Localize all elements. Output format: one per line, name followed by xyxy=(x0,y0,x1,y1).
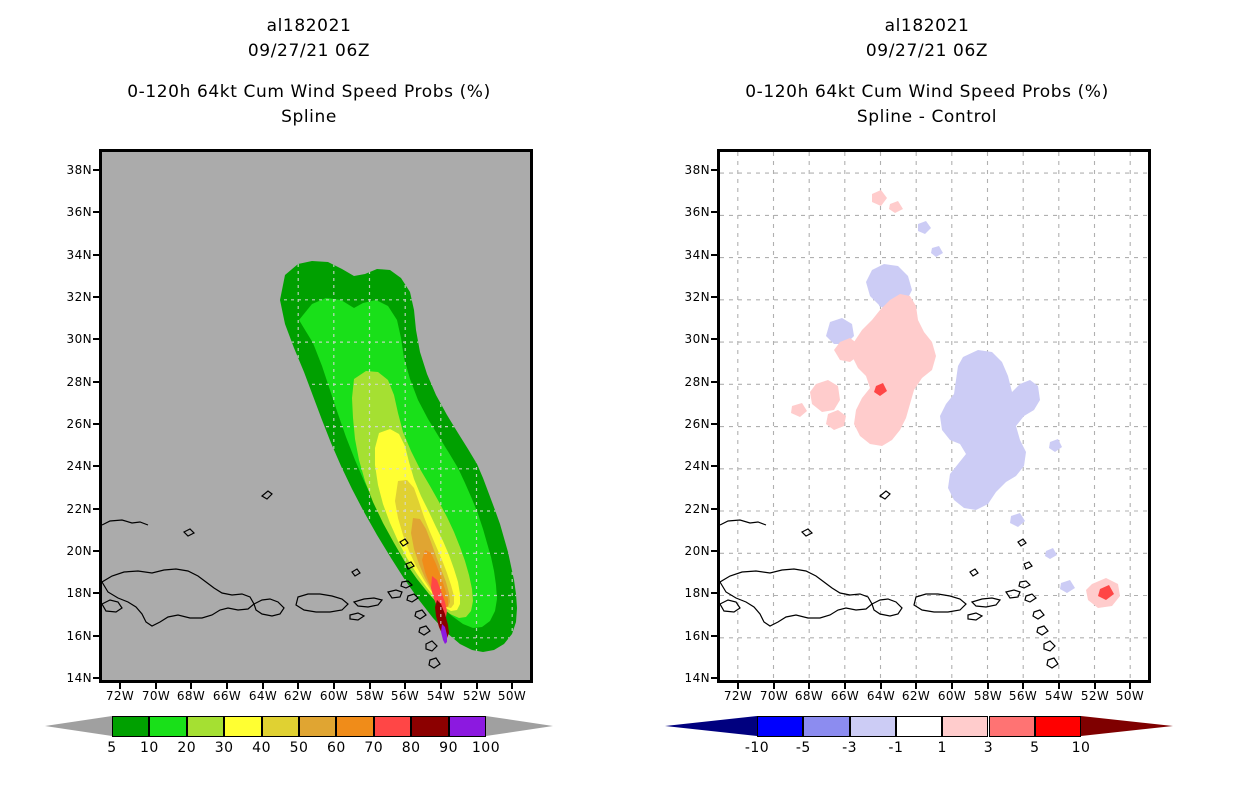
product-title-label: 0-120h 64kt Cum Wind Speed Probs (%) xyxy=(618,80,1236,105)
colorbar-segment xyxy=(112,716,149,737)
control-plot-frame xyxy=(717,149,1151,683)
panel-spline: al182021 09/27/21 06Z 0-120h 64kt Cum Wi… xyxy=(0,0,618,800)
y-tick-label: 34N xyxy=(67,248,92,262)
x-tick-label: 72W xyxy=(724,689,752,703)
colorbar-segment xyxy=(449,716,486,737)
colorbar-tick-label: 20 xyxy=(177,740,196,756)
colorbar-segment xyxy=(374,716,411,737)
x-tick-label: 60W xyxy=(938,689,966,703)
spline-plot-area: 38N 36N 34N 32N 30N 28N 26N 24N 22N 20N … xyxy=(99,149,533,683)
y-tick-label: 28N xyxy=(685,375,710,389)
colorbar-segment xyxy=(411,716,448,737)
y-tick-label: 24N xyxy=(67,459,92,473)
control-colorbar: -10 -5 -3 -1 1 3 5 10 xyxy=(665,716,1173,737)
panel-spline-control: al182021 09/27/21 06Z 0-120h 64kt Cum Wi… xyxy=(618,0,1236,800)
colorbar-tick-label: -1 xyxy=(888,740,903,756)
valid-time-label: 09/27/21 06Z xyxy=(0,39,618,64)
y-tick-label: 32N xyxy=(67,290,92,304)
x-tick-label: 70W xyxy=(760,689,788,703)
x-tick-label: 68W xyxy=(795,689,823,703)
colorbar-tick-label: -10 xyxy=(745,740,769,756)
panel-control-titles: al182021 09/27/21 06Z 0-120h 64kt Cum Wi… xyxy=(618,0,1236,130)
colorbar-segment xyxy=(149,716,186,737)
colorbar-segment xyxy=(896,716,942,737)
y-tick-label: 32N xyxy=(685,290,710,304)
x-tick-label: 62W xyxy=(902,689,930,703)
x-tick-label: 66W xyxy=(213,689,241,703)
spline-colorbar: 5 10 20 30 40 50 60 70 80 90 100 xyxy=(45,716,553,737)
x-tick-label: 70W xyxy=(142,689,170,703)
colorbar-tick-label: 10 xyxy=(140,740,159,756)
colorbar-segment xyxy=(803,716,849,737)
x-tick-label: 58W xyxy=(356,689,384,703)
y-tick-label: 28N xyxy=(67,375,92,389)
y-tick-label: 20N xyxy=(67,544,92,558)
colorbar-segment xyxy=(262,716,299,737)
x-tick-label: 62W xyxy=(284,689,312,703)
colorbar-high-cap xyxy=(486,716,553,736)
y-tick-label: 20N xyxy=(685,544,710,558)
colorbar-low-cap xyxy=(665,716,757,736)
colorbar-low-cap xyxy=(45,716,112,736)
colorbar-segment xyxy=(850,716,896,737)
y-tick-label: 22N xyxy=(685,502,710,516)
spline-plot-frame xyxy=(99,149,533,683)
colorbar-tick-label: 40 xyxy=(252,740,271,756)
y-tick-label: 24N xyxy=(685,459,710,473)
y-tick-label: 26N xyxy=(67,417,92,431)
colorbar-segment xyxy=(942,716,988,737)
y-tick-label: 16N xyxy=(685,629,710,643)
colorbar-tick-label: 10 xyxy=(1072,740,1091,756)
control-plot-area: 38N 36N 34N 32N 30N 28N 26N 24N 22N 20N … xyxy=(717,149,1151,683)
x-tick-label: 56W xyxy=(1009,689,1037,703)
colorbar-tick-label: 50 xyxy=(290,740,309,756)
colorbar-tick-label: 70 xyxy=(364,740,383,756)
x-tick-label: 72W xyxy=(106,689,134,703)
x-tick-label: 60W xyxy=(320,689,348,703)
colorbar-tick-label: 80 xyxy=(402,740,421,756)
y-tick-label: 38N xyxy=(67,163,92,177)
colorbar-segment xyxy=(187,716,224,737)
x-tick-label: 66W xyxy=(831,689,859,703)
y-tick-label: 18N xyxy=(67,586,92,600)
x-tick-label: 54W xyxy=(427,689,455,703)
product-title-label: 0-120h 64kt Cum Wind Speed Probs (%) xyxy=(0,80,618,105)
colorbar-segment xyxy=(1035,716,1081,737)
y-tick-label: 18N xyxy=(685,586,710,600)
x-tick-label: 64W xyxy=(867,689,895,703)
y-tick-label: 16N xyxy=(67,629,92,643)
y-tick-label: 30N xyxy=(67,332,92,346)
panel-spline-titles: al182021 09/27/21 06Z 0-120h 64kt Cum Wi… xyxy=(0,0,618,130)
colorbar-segment xyxy=(224,716,261,737)
y-tick-label: 14N xyxy=(67,671,92,685)
x-tick-label: 52W xyxy=(463,689,491,703)
y-tick-label: 38N xyxy=(685,163,710,177)
colorbar-tick-label: 1 xyxy=(937,740,946,756)
y-tick-label: 34N xyxy=(685,248,710,262)
x-tick-label: 56W xyxy=(391,689,419,703)
colorbar-segment xyxy=(299,716,336,737)
y-tick-label: 14N xyxy=(685,671,710,685)
x-tick-label: 68W xyxy=(177,689,205,703)
colorbar-tick-label: 5 xyxy=(1030,740,1039,756)
storm-id-label: al182021 xyxy=(618,14,1236,39)
colorbar-tick-label: 30 xyxy=(215,740,234,756)
colorbar-high-cap xyxy=(1081,716,1173,736)
colorbar-tick-label: 5 xyxy=(107,740,116,756)
colorbar-tick-label: 60 xyxy=(327,740,346,756)
y-tick-label: 26N xyxy=(685,417,710,431)
colorbar-tick-label: 100 xyxy=(472,740,500,756)
colorbar-segment xyxy=(989,716,1035,737)
x-tick-label: 50W xyxy=(1116,689,1144,703)
colorbar-segment xyxy=(336,716,373,737)
y-tick-label: 36N xyxy=(685,205,710,219)
x-tick-label: 58W xyxy=(974,689,1002,703)
valid-time-label: 09/27/21 06Z xyxy=(618,39,1236,64)
y-tick-label: 22N xyxy=(67,502,92,516)
storm-id-label: al182021 xyxy=(0,14,618,39)
panel-subtitle-label: Spline - Control xyxy=(618,105,1236,130)
colorbar-tick-label: 90 xyxy=(439,740,458,756)
x-tick-label: 64W xyxy=(249,689,277,703)
colorbar-segment xyxy=(757,716,803,737)
x-tick-label: 52W xyxy=(1081,689,1109,703)
y-tick-label: 30N xyxy=(685,332,710,346)
colorbar-tick-label: -3 xyxy=(842,740,857,756)
y-tick-label: 36N xyxy=(67,205,92,219)
colorbar-tick-label: 3 xyxy=(984,740,993,756)
x-tick-label: 54W xyxy=(1045,689,1073,703)
panel-subtitle-label: Spline xyxy=(0,105,618,130)
colorbar-tick-label: -5 xyxy=(796,740,811,756)
x-tick-label: 50W xyxy=(498,689,526,703)
